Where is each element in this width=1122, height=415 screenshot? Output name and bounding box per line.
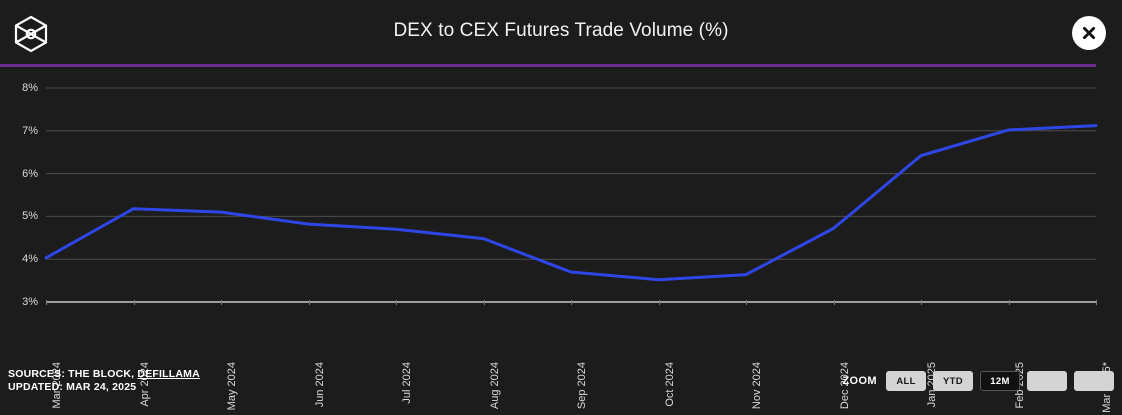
sources-link-defillama[interactable]: DEFILLAMA: [137, 368, 199, 380]
x-axis-tick: [221, 300, 222, 305]
zoom-button-all[interactable]: ALL: [886, 371, 926, 391]
x-axis-tick: [309, 300, 310, 305]
sources-prefix: SOURCES: THE BLOCK,: [8, 368, 137, 380]
zoom-button-group: ALLYTD12M: [886, 371, 1114, 391]
x-axis-tick: [921, 300, 922, 305]
zoom-button-blank-4[interactable]: [1074, 371, 1114, 391]
x-axis-tick: [1096, 300, 1097, 305]
zoom-controls: ZOOM ALLYTD12M: [842, 371, 1114, 391]
x-axis-tick: [396, 300, 397, 305]
zoom-button-ytd[interactable]: YTD: [933, 371, 973, 391]
x-axis-tick: [834, 300, 835, 305]
updated-text: UPDATED: MAR 24, 2025: [8, 381, 136, 393]
close-icon: [1081, 25, 1097, 41]
zoom-button-12m[interactable]: 12M: [980, 371, 1020, 391]
page-title: DEX to CEX Futures Trade Volume (%): [0, 20, 1122, 42]
x-axis-tick: [571, 300, 572, 305]
zoom-button-blank-3[interactable]: [1027, 371, 1067, 391]
chart-canvas: [0, 70, 1122, 315]
zoom-label: ZOOM: [842, 375, 877, 387]
chart-widget: DEX to CEX Futures Trade Volume (%) 8%7%…: [0, 0, 1122, 415]
x-axis-tick: [46, 300, 47, 305]
chart-footer: SOURCES: THE BLOCK, DEFILLAMA UPDATED: M…: [0, 367, 1122, 415]
chart-plot-area: 8%7%6%5%4%3%: [0, 70, 1122, 315]
x-axis-tick: [1009, 300, 1010, 305]
sources-text: SOURCES: THE BLOCK, DEFILLAMA: [8, 367, 200, 381]
x-axis: Mar 2024Apr 2024May 2024Jun 2024Jul 2024…: [0, 300, 1122, 370]
chart-line-series: [46, 126, 1096, 280]
close-button[interactable]: [1072, 16, 1106, 50]
x-axis-tick: [484, 300, 485, 305]
x-axis-tick: [134, 300, 135, 305]
accent-divider: [0, 64, 1096, 67]
x-axis-tick: [746, 300, 747, 305]
chart-header: DEX to CEX Futures Trade Volume (%): [0, 0, 1122, 66]
x-axis-tick: [659, 300, 660, 305]
